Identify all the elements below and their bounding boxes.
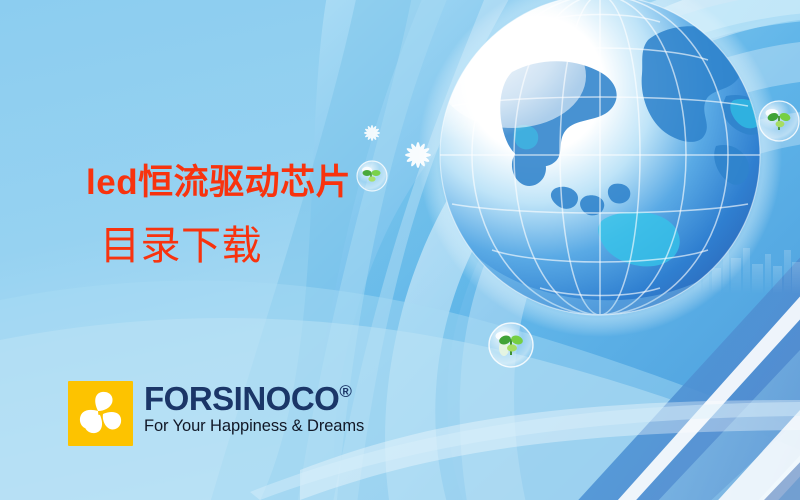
flower-decoration-icon	[364, 125, 380, 141]
registered-mark: ®	[339, 382, 351, 401]
headline-line-1: led恒流驱动芯片	[86, 162, 351, 205]
headline-block: led恒流驱动芯片 目录下载	[86, 162, 351, 270]
brand-logo: FORSINOCO® For Your Happiness & Dreams	[68, 381, 364, 446]
four-petal-flower-icon	[68, 381, 133, 446]
logo-wordmark-text: FORSINOCO	[144, 380, 339, 417]
bubble-sprout-icon	[759, 101, 799, 141]
globe-icon	[405, 0, 782, 337]
poster-canvas: led恒流驱动芯片 目录下载 FORSINOCO® For Your Happi…	[0, 0, 800, 500]
flower-decoration-icon	[405, 142, 431, 168]
bubble-sprout-icon	[489, 323, 533, 367]
bubble-sprout-icon	[357, 161, 387, 191]
city-skyline-silhouette	[694, 244, 800, 294]
logo-tagline: For Your Happiness & Dreams	[144, 417, 364, 435]
logo-wordmark: FORSINOCO®	[144, 383, 364, 415]
headline-line-2: 目录下载	[100, 222, 351, 271]
